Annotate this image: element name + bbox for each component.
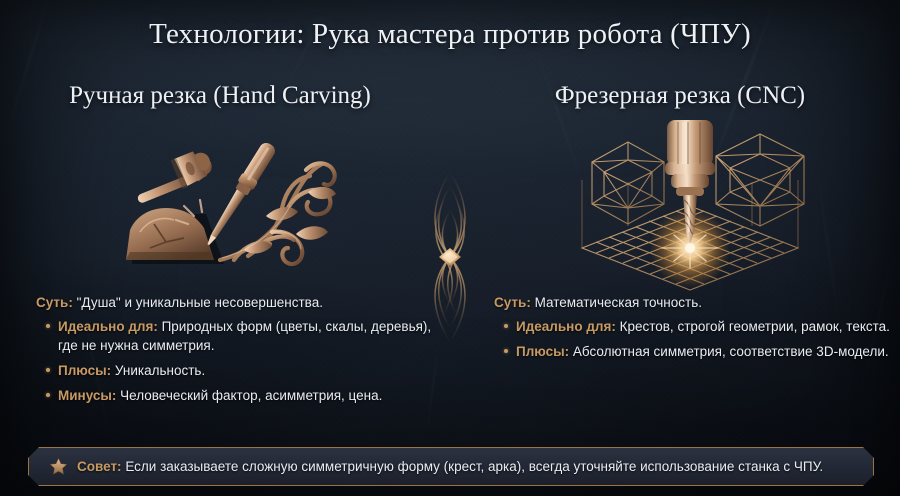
point-text: Человеческий фактор, асимметрия, цена. [116, 388, 382, 403]
star-icon [49, 457, 68, 476]
point-text: Крестов, строгой геометрии, рамок, текст… [616, 319, 890, 334]
list-item: Минусы: Человеческий фактор, асимметрия,… [45, 386, 441, 405]
text-column-hand-carving: Суть: "Душа" и уникальные несовершенства… [36, 293, 441, 411]
point-text: Абсолютная симметрия, соответствие 3D-мо… [569, 344, 889, 359]
lede-label: Суть: [36, 295, 73, 310]
tip-body: Если заказываете сложную симметричную фо… [122, 459, 824, 474]
point-text: Уникальность. [111, 363, 205, 378]
lede-text: "Душа" и уникальные несовершенства. [73, 295, 323, 310]
list-item: Идеально для: Природных форм (цветы, ска… [45, 317, 441, 355]
points-list-hand-carving: Идеально для: Природных форм (цветы, ска… [36, 317, 441, 405]
list-item: Идеально для: Крестов, строгой геометрии… [503, 317, 894, 336]
point-label: Плюсы: [58, 363, 111, 378]
lede-text: Математическая точность. [531, 295, 702, 310]
tip-label: Совет: [77, 459, 122, 474]
cnc-illustration [570, 120, 810, 295]
column-heading-hand-carving: Ручная резка (Hand Carving) [10, 79, 430, 113]
page-title: Технологии: Рука мастера против робота (… [0, 14, 900, 54]
lede-label: Суть: [494, 295, 531, 310]
list-item: Плюсы: Уникальность. [45, 361, 441, 380]
list-item: Плюсы: Абсолютная симметрия, соответстви… [503, 342, 894, 361]
points-list-cnc: Идеально для: Крестов, строгой геометрии… [494, 317, 894, 361]
infographic-canvas: Технологии: Рука мастера против робота (… [0, 0, 900, 496]
tip-banner: Совет: Если заказываете сложную симметри… [28, 447, 874, 486]
hand-carving-illustration [110, 120, 350, 295]
point-label: Идеально для: [58, 319, 158, 334]
point-label: Минусы: [58, 388, 116, 403]
tip-text: Совет: Если заказываете сложную симметри… [77, 458, 823, 476]
point-label: Плюсы: [516, 344, 569, 359]
lede-cnc: Суть: Математическая точность. [494, 293, 894, 312]
point-label: Идеально для: [516, 319, 616, 334]
column-heading-cnc: Фрезерная резка (CNC) [470, 79, 890, 113]
text-column-cnc: Суть: Математическая точность. Идеально … [494, 293, 894, 367]
lede-hand-carving: Суть: "Душа" и уникальные несовершенства… [36, 293, 441, 312]
